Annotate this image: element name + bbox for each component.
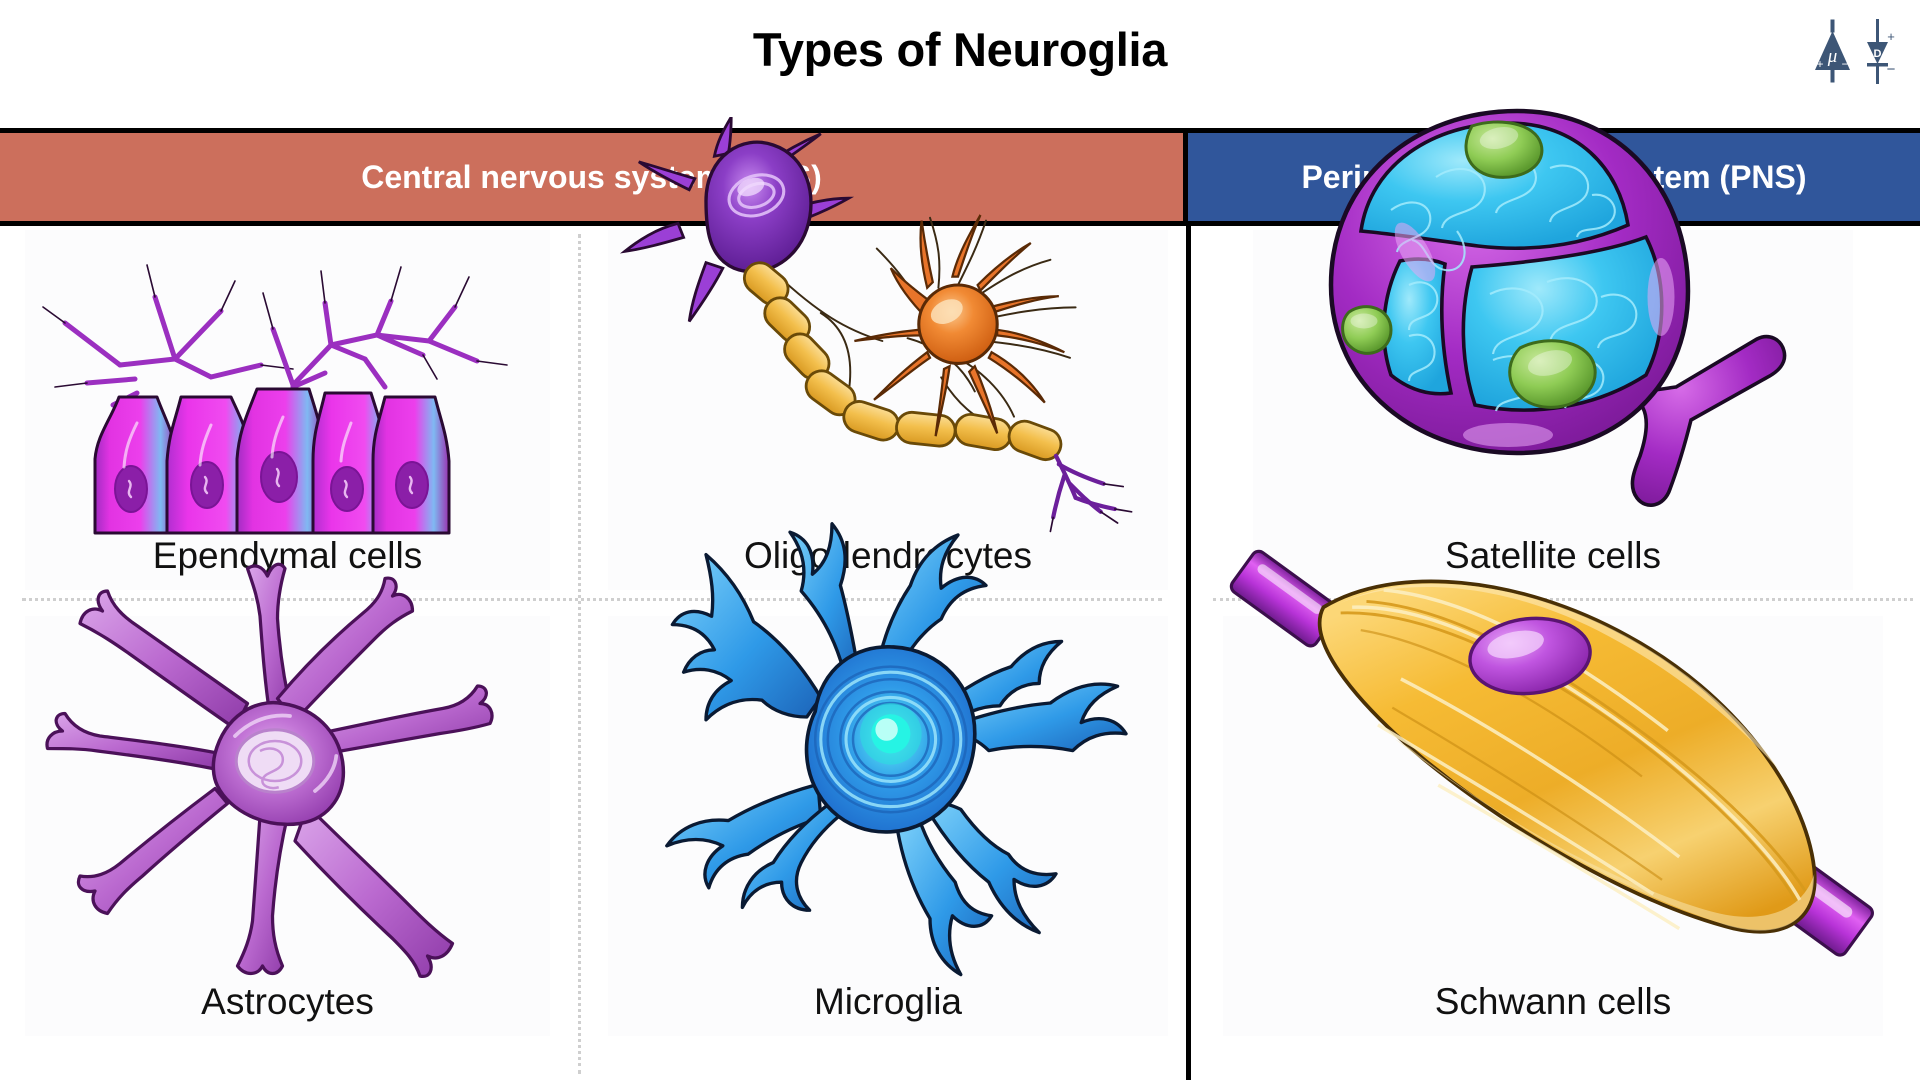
logo-left-minus: − xyxy=(1841,57,1848,71)
cell-label-schwann: Schwann cells xyxy=(1435,983,1672,1036)
cns-pns-divider xyxy=(1186,224,1191,1080)
logo-d-glyph: D xyxy=(1874,48,1882,60)
logo-left-plus: + xyxy=(1816,57,1823,71)
satellite-cells-illustration xyxy=(1253,87,1853,537)
cns-vertical-separator xyxy=(578,234,581,1074)
cell-card-astrocytes[interactable]: Astrocytes xyxy=(25,616,550,1036)
cns-region: Ependymal cells xyxy=(0,226,1186,1080)
oligodendrocytes-illustration xyxy=(608,117,1168,537)
cell-label-microglia: Microglia xyxy=(814,983,962,1036)
logo-right-plus: + xyxy=(1887,29,1895,44)
microglia-illustration xyxy=(608,493,1168,983)
cell-type-grid: Ependymal cells xyxy=(0,226,1920,1080)
cell-card-microglia[interactable]: Microglia xyxy=(608,616,1168,1036)
astrocytes-illustration xyxy=(25,546,550,984)
cell-card-schwann[interactable]: Schwann cells xyxy=(1223,616,1883,1036)
page-title: Types of Neuroglia xyxy=(0,22,1920,77)
logo-right-minus: − xyxy=(1887,61,1896,78)
schwann-cells-illustration xyxy=(1223,524,1883,983)
ependymal-cells-illustration xyxy=(25,230,550,537)
circuit-symbols-logo: μ + − D + − xyxy=(1812,18,1898,86)
cell-label-astrocytes: Astrocytes xyxy=(201,983,374,1036)
cell-card-ependymal[interactable]: Ependymal cells xyxy=(25,230,550,590)
logo-mu-glyph: μ xyxy=(1827,46,1838,67)
pns-region: Satellite cells xyxy=(1193,226,1920,1080)
